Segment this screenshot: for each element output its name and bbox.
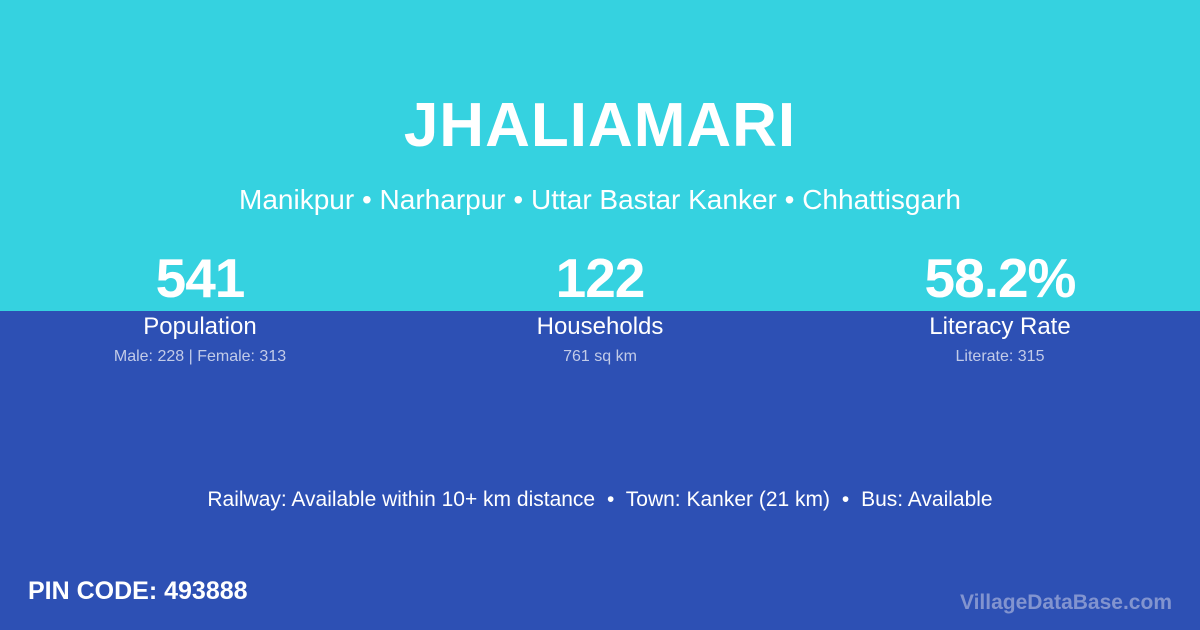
village-info-card: JHALIAMARI Manikpur • Narharpur • Uttar … <box>0 0 1200 630</box>
stat-value: 122 <box>400 245 800 311</box>
transport-separator-2: • <box>836 488 855 511</box>
stat-label: Literacy Rate <box>800 311 1200 343</box>
stat-sublabel: Literate: 315 <box>800 343 1200 371</box>
transport-bus: Bus: Available <box>861 488 993 511</box>
transport-town: Town: Kanker (21 km) <box>626 488 830 511</box>
stat-label: Households <box>400 311 800 343</box>
site-brand: VillageDataBase.com <box>960 589 1172 617</box>
transport-info: Railway: Available within 10+ km distanc… <box>0 485 1200 515</box>
transport-separator-1: • <box>601 488 620 511</box>
stats-row: 541 Population Male: 228 | Female: 313 1… <box>0 245 1200 371</box>
stat-sublabel: Male: 228 | Female: 313 <box>0 343 400 371</box>
stat-literacy-rate: 58.2% Literacy Rate Literate: 315 <box>800 245 1200 371</box>
stat-households: 122 Households 761 sq km <box>400 245 800 371</box>
stat-sublabel: 761 sq km <box>400 343 800 371</box>
stat-value: 541 <box>0 245 400 311</box>
stat-value: 58.2% <box>800 245 1200 311</box>
stat-population: 541 Population Male: 228 | Female: 313 <box>0 245 400 371</box>
stat-label: Population <box>0 311 400 343</box>
transport-railway: Railway: Available within 10+ km distanc… <box>207 488 595 511</box>
breadcrumb: Manikpur • Narharpur • Uttar Bastar Kank… <box>0 182 1200 218</box>
page-title: JHALIAMARI <box>0 88 1200 164</box>
pin-code: PIN CODE: 493888 <box>28 575 248 607</box>
